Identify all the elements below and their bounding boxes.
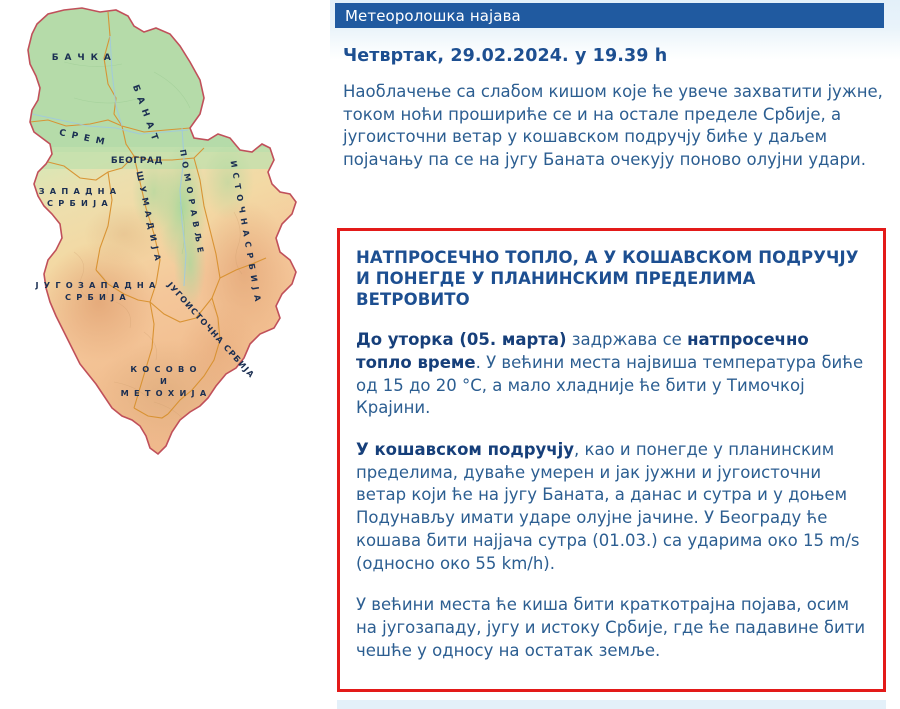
svg-text:С Р Б И Ј А: С Р Б И Ј А	[65, 292, 127, 302]
forecast-date: Четвртак, 29.02.2024. у 19.39 h	[335, 36, 895, 66]
panel-bottom-tint	[337, 700, 886, 709]
weather-alert-box: НАТПРОСЕЧНО ТОПЛО, А У КОШАВСКОМ ПОДРУЧЈ…	[337, 228, 886, 692]
map-label-beograd: БЕОГРАД	[111, 156, 163, 166]
forecast-body: Четвртак, 29.02.2024. у 19.39 h Наоблаче…	[335, 36, 895, 172]
map-relief-shading	[4, 2, 320, 472]
svg-text:Ј У Г О З А П А Д Н А: Ј У Г О З А П А Д Н А	[34, 280, 156, 290]
weather-alert-paragraph-2: У кошавском подручју, као и понегде у пл…	[356, 439, 867, 575]
serbia-map: Б А Ч К А Б А Н А Т С Р Е М БЕОГРАД З А …	[4, 2, 320, 472]
serbia-map-svg: Б А Ч К А Б А Н А Т С Р Е М БЕОГРАД З А …	[4, 2, 320, 472]
svg-text:К О С О В О: К О С О В О	[130, 364, 197, 374]
weather-alert-content: НАТПРОСЕЧНО ТОПЛО, А У КОШАВСКОМ ПОДРУЧЈ…	[340, 231, 883, 662]
svg-text:М Е Т О Х И Ј А: М Е Т О Х И Ј А	[121, 388, 208, 398]
svg-text:З А П А Д Н А: З А П А Д Н А	[39, 186, 118, 196]
weather-alert-title: НАТПРОСЕЧНО ТОПЛО, А У КОШАВСКОМ ПОДРУЧЈ…	[356, 247, 867, 310]
weather-forecast-page: Б А Ч К А Б А Н А Т С Р Е М БЕОГРАД З А …	[0, 0, 900, 709]
map-panel: Б А Ч К А Б А Н А Т С Р Е М БЕОГРАД З А …	[0, 0, 330, 709]
svg-text:И: И	[160, 376, 168, 386]
svg-text:С Р Б И Ј А: С Р Б И Ј А	[47, 198, 109, 208]
forecast-content: Метеоролошка најава Четвртак, 29.02.2024…	[330, 0, 900, 709]
weather-alert-paragraph-3: У већини места ће киша бити краткотрајна…	[356, 594, 867, 662]
map-label-backa: Б А Ч К А	[52, 53, 113, 63]
page-title: Метеоролошка најава	[335, 7, 521, 25]
section-header-bar: Метеоролошка најава	[335, 3, 884, 28]
weather-alert-paragraph-1: До уторка (05. марта) задржава се натпро…	[356, 329, 867, 420]
forecast-intro-text: Наоблачење са слабом кишом које ће увече…	[335, 66, 895, 172]
